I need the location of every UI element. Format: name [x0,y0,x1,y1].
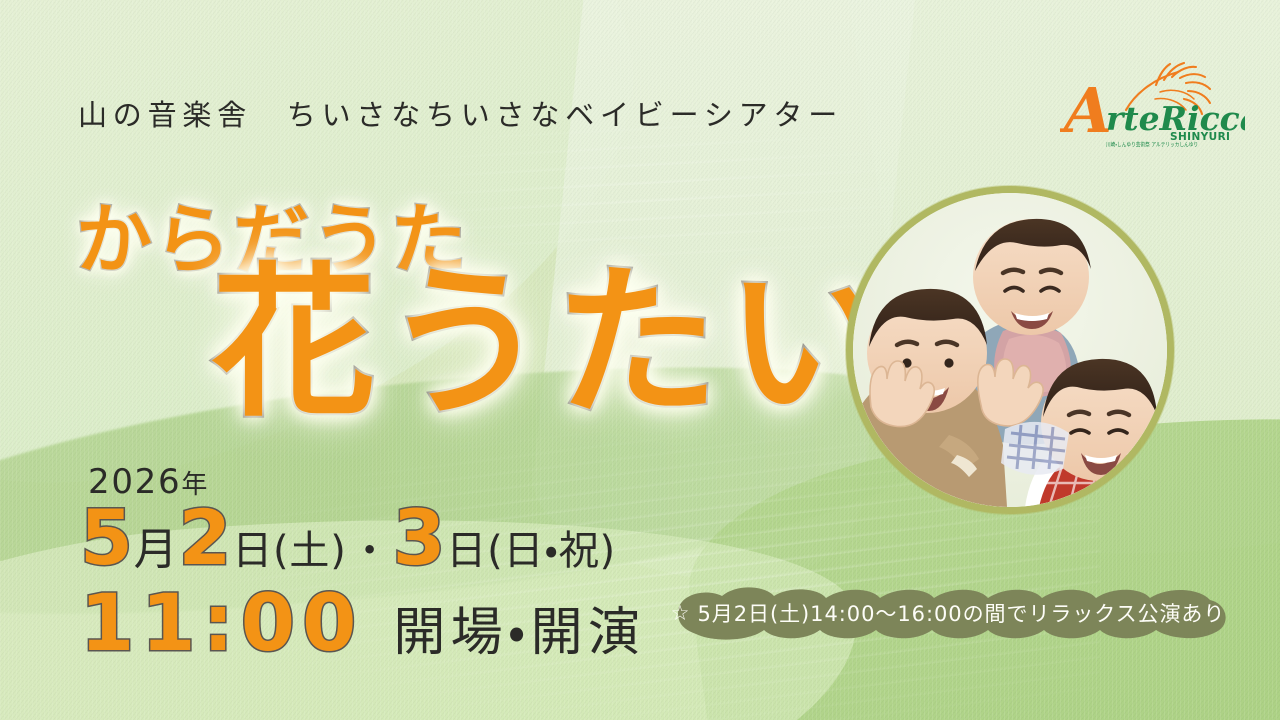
arte-ricca-logo[interactable]: A rteRicca SHINYURI 川崎・しんゆり芸術祭 アルテリッカしんゆ… [1060,58,1245,150]
company-and-series-kicker: 山の音楽舎 ちいさなちいさなベイビーシアター [78,92,843,134]
month-number: 5 [80,500,134,576]
date-separator: ・ [347,531,393,571]
logo-letter-a: A [1060,74,1112,147]
date-line: 5 月 2 日 (土) ・ 3 日 (日・祝) [80,500,616,576]
babies-photo [853,193,1167,507]
relax-note: 5月2日(土)14:00〜16:00の間でリラックス公演あり [697,598,1225,628]
star-icon: ☆ [671,601,691,625]
day2-weekday: (日・祝) [487,531,616,571]
start-time: 11:00 [80,585,363,663]
logo-tagline: 川崎・しんゆり芸術祭 アルテリッカしんゆり [1106,142,1198,150]
month-unit: 月 [134,528,179,572]
time-label: 開場・開演 [393,607,645,659]
poster-canvas: 山の音楽舎 ちいさなちいさなベイビーシアター A rteRicca [0,0,1280,720]
day1-weekday: (土) [273,531,347,571]
day2-unit: 日 [446,531,487,571]
time-line: 11:00 開場・開演 [80,585,645,663]
babies-photo-frame [846,186,1174,514]
day1-number: 2 [179,500,233,576]
day1-unit: 日 [232,531,273,571]
relax-performance-banner: ☆ 5月2日(土)14:00〜16:00の間でリラックス公演あり [648,586,1248,640]
relax-note-text: ☆ 5月2日(土)14:00〜16:00の間でリラックス公演あり [648,586,1248,640]
main-title-hanautai: 花うたい [212,262,898,426]
day2-number: 3 [393,500,447,576]
cushion [1001,422,1069,475]
